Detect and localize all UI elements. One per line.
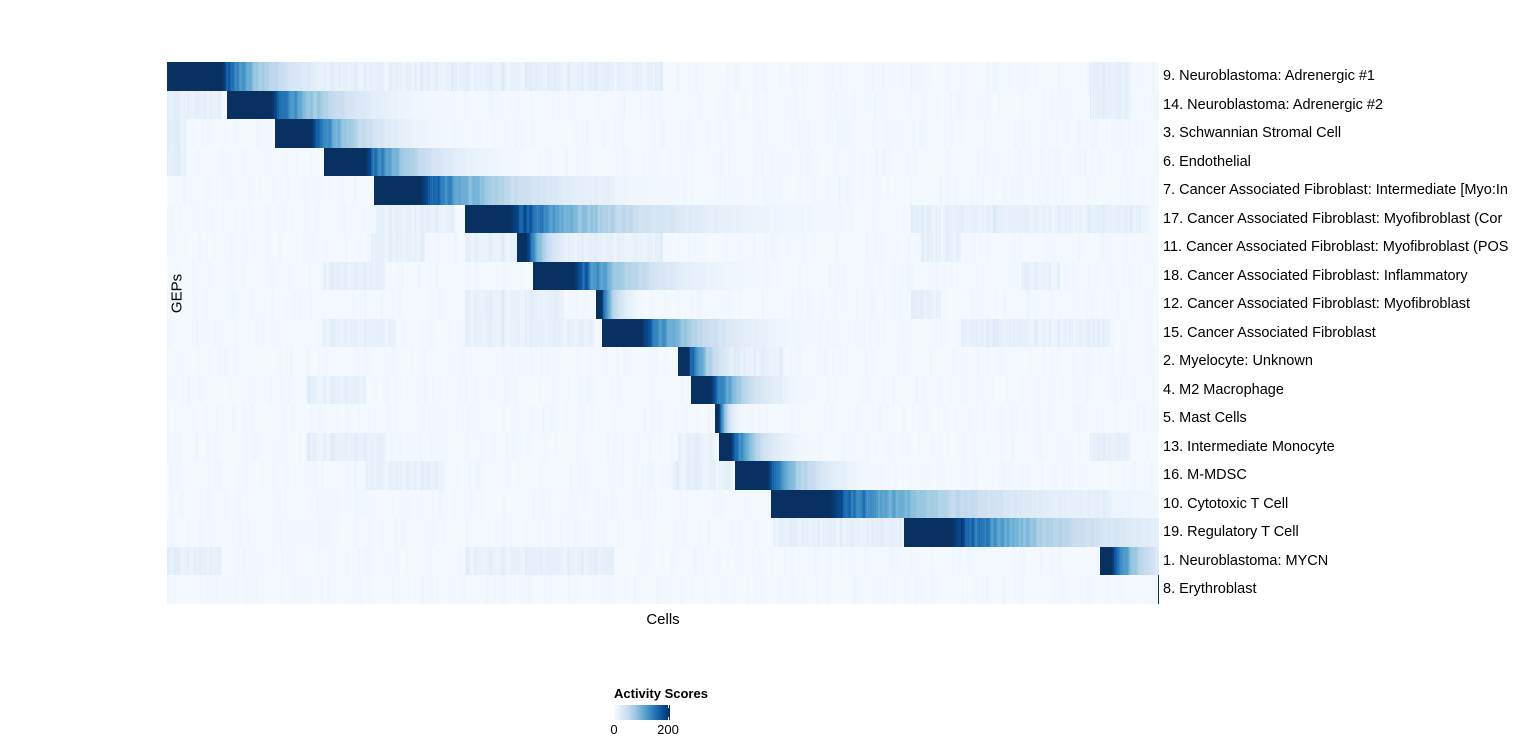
heatmap-row-label: 14. Neuroblastoma: Adrenergic #2 [1163, 91, 1383, 120]
heatmap-row-label: 1. Neuroblastoma: MYCN [1163, 547, 1328, 576]
x-axis-title: Cells [167, 611, 1159, 628]
colorbar-legend: Activity Scores 0200 [612, 686, 812, 743]
colorbar-title: Activity Scores [614, 686, 708, 701]
colorbar-tick-label: 200 [657, 722, 679, 737]
heatmap-row-label: 2. Myelocyte: Unknown [1163, 347, 1313, 376]
heatmap-row-label: 11. Cancer Associated Fibroblast: Myofib… [1163, 233, 1508, 262]
colorbar-tick-label: 0 [610, 722, 617, 737]
heatmap-row-label: 17. Cancer Associated Fibroblast: Myofib… [1163, 205, 1502, 234]
heatmap-row-label: 8. Erythroblast [1163, 575, 1257, 604]
heatmap-row-label: 16. M-MDSC [1163, 461, 1247, 490]
heatmap-row-label: 4. M2 Macrophage [1163, 376, 1284, 405]
heatmap-row-label: 19. Regulatory T Cell [1163, 518, 1299, 547]
y-axis-title: GEPs [169, 249, 186, 339]
heatmap-row-label: 18. Cancer Associated Fibroblast: Inflam… [1163, 262, 1468, 291]
heatmap-row-label: 13. Intermediate Monocyte [1163, 433, 1335, 462]
heatmap-canvas [167, 62, 1159, 604]
heatmap-plot-area [167, 62, 1159, 604]
heatmap-row-label: 5. Mast Cells [1163, 404, 1247, 433]
heatmap-row-label: 15. Cancer Associated Fibroblast [1163, 319, 1376, 348]
heatmap-row-label: 6. Endothelial [1163, 148, 1251, 177]
heatmap-row-label: 7. Cancer Associated Fibroblast: Interme… [1163, 176, 1508, 205]
colorbar-gradient [614, 705, 670, 720]
heatmap-row-label: 12. Cancer Associated Fibroblast: Myofib… [1163, 290, 1470, 319]
heatmap-row-label: 3. Schwannian Stromal Cell [1163, 119, 1341, 148]
heatmap-row-label: 9. Neuroblastoma: Adrenergic #1 [1163, 62, 1375, 91]
heatmap-row-label: 10. Cytotoxic T Cell [1163, 490, 1288, 519]
heatmap-row-labels: 9. Neuroblastoma: Adrenergic #114. Neuro… [1163, 62, 1540, 604]
